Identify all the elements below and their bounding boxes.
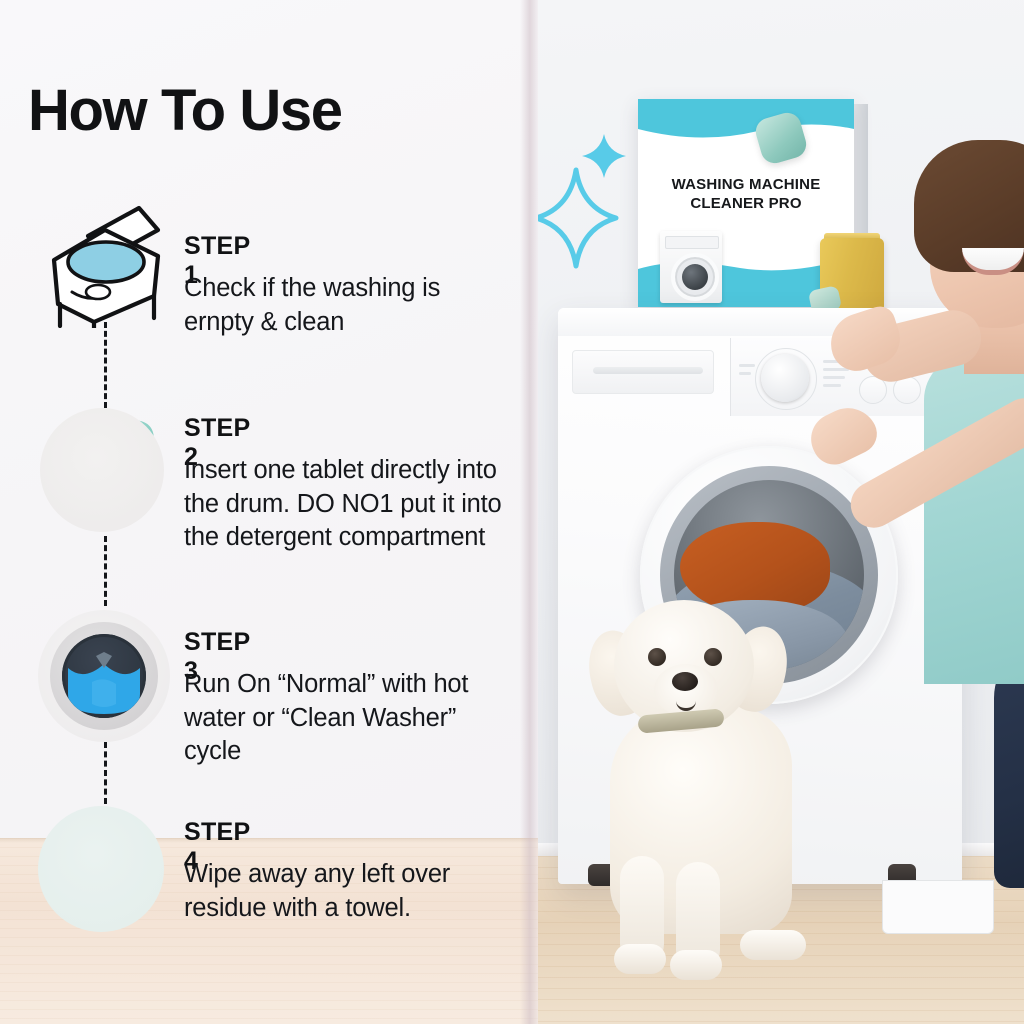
dog-paw-right [670, 950, 722, 980]
box-mini-washer-graphic [660, 231, 722, 303]
box-mini-door [671, 253, 719, 301]
connector-dash-1 [104, 322, 107, 408]
step-1-body: Check if the washing is ernpty & clean [184, 272, 484, 339]
product-box-title: WASHING MACHINE CLEANER PRO [638, 175, 854, 213]
detergent-drawer [572, 350, 714, 394]
drawer-handle[interactable] [593, 367, 703, 374]
product-box-line2: CLEANER PRO [690, 195, 801, 212]
dog-rear-paw [740, 930, 806, 960]
dog-nose [672, 672, 698, 691]
page-title: How To Use [28, 82, 342, 140]
connector-dash-3 [104, 742, 107, 804]
hand-wiping-cloth-icon [34, 806, 174, 930]
product-photo-scene: WASHING MACHINE CLEANER PRO [538, 0, 1024, 1024]
dog-eye-left [648, 648, 666, 666]
step-3-body: Run On “Normal” with hot water or “Clean… [184, 668, 514, 769]
white-dog [572, 600, 822, 1004]
dog-paw-left [614, 944, 666, 974]
connector-dash-2 [104, 536, 107, 606]
box-mini-glass [682, 264, 708, 290]
program-dial[interactable] [761, 354, 809, 402]
step-4-body: Wipe away any left over residue with a t… [184, 858, 504, 925]
smiling-woman [868, 140, 1024, 880]
box-mini-panel [665, 236, 719, 249]
instructions-panel: How To Use STEP 1 Check [0, 0, 538, 1024]
top-load-washer-icon [42, 200, 172, 328]
panel-divider [520, 0, 538, 1024]
how-to-use-infographic: How To Use STEP 1 Check [0, 0, 1024, 1024]
product-box-line1: WASHING MACHINE [672, 176, 821, 193]
dog-mouth [676, 692, 696, 711]
washer-drum-water-icon [36, 608, 174, 744]
box-wave-top [638, 99, 854, 153]
cleaning-tablet-icon [36, 404, 172, 536]
step-2-body: Insert one tablet directly into the drum… [184, 454, 519, 555]
dog-eye-right [704, 648, 722, 666]
washer-filter-hatch[interactable] [882, 880, 994, 934]
